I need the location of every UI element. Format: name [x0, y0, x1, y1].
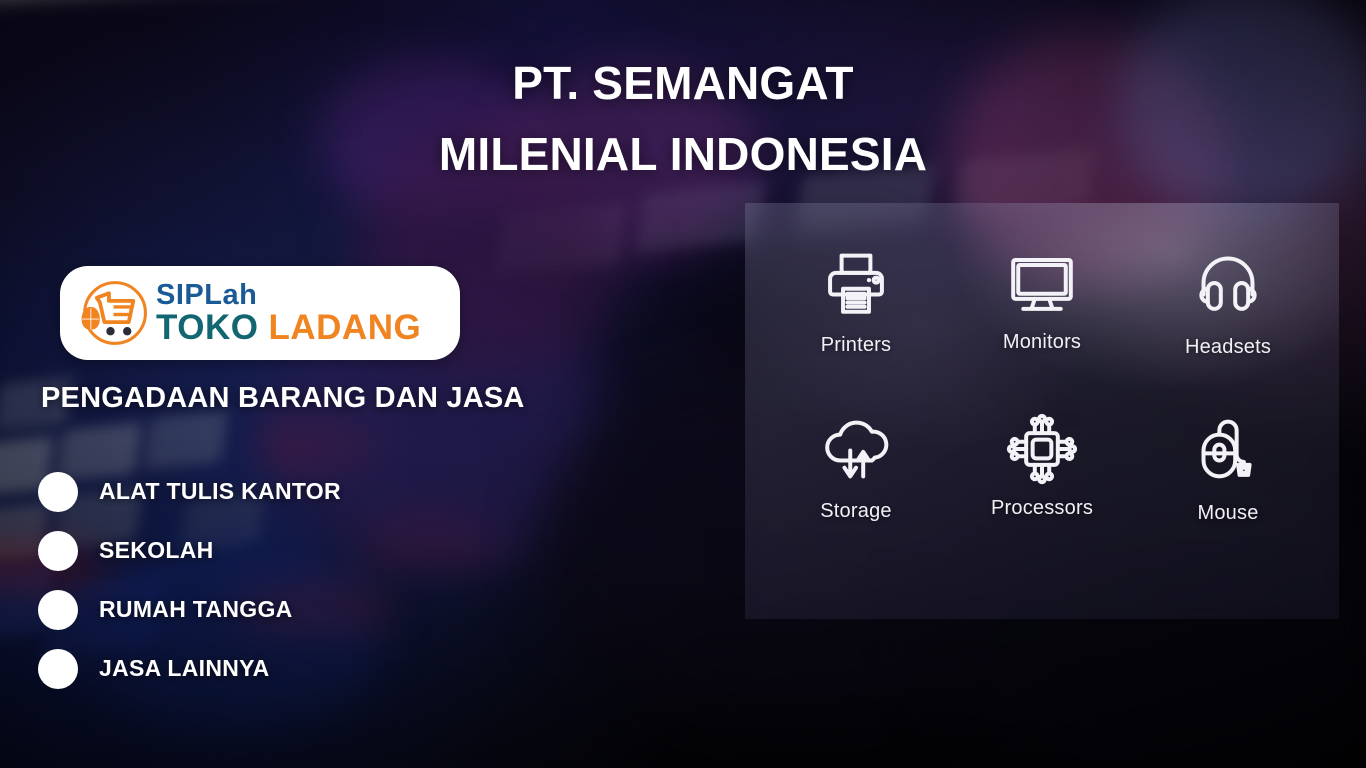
services-list: ALAT TULIS KANTOR SEKOLAH RUMAH TANGGA J… [38, 462, 341, 698]
printer-icon [820, 247, 892, 319]
product-category-label: Printers [821, 334, 892, 357]
siplah-logo[interactable]: SIPLah TOKOLADANG [60, 266, 460, 360]
product-category-mouse[interactable]: Mouse [1135, 413, 1321, 579]
product-category-label: Monitors [1003, 331, 1081, 354]
product-category-monitors[interactable]: Monitors [949, 247, 1135, 413]
computer-mouse-icon [1192, 413, 1264, 485]
siplah-logo-wordmark: SIPLah TOKOLADANG [156, 281, 444, 345]
list-item-label: SEKOLAH [99, 537, 214, 564]
list-item[interactable]: ALAT TULIS KANTOR [38, 462, 341, 521]
list-item-label: ALAT TULIS KANTOR [99, 478, 341, 505]
product-category-label: Processors [991, 497, 1093, 520]
bullet-dot-icon [38, 649, 78, 689]
cloud-storage-icon [820, 413, 892, 485]
page-title-line-1: PT. SEMANGAT [0, 48, 1366, 119]
processor-chip-icon [1006, 413, 1078, 485]
bullet-dot-icon [38, 531, 78, 571]
list-item-label: RUMAH TANGGA [99, 596, 293, 623]
logo-brand-store: TOKOLADANG [156, 308, 421, 347]
product-category-storage[interactable]: Storage [763, 413, 949, 579]
shopping-cart-icon [74, 275, 150, 351]
slide-canvas: PT. SEMANGAT MILENIAL INDONESIA SIPLah T… [0, 0, 1366, 768]
product-category-label: Storage [820, 500, 891, 523]
product-category-processors[interactable]: Processors [949, 413, 1135, 579]
page-title-line-2: MILENIAL INDONESIA [0, 119, 1366, 190]
product-category-grid: Printers Monitors [745, 203, 1339, 579]
logo-brand-toko: TOKO [156, 308, 258, 347]
product-category-printers[interactable]: Printers [763, 247, 949, 413]
list-item-label: JASA LAINNYA [99, 655, 270, 682]
product-category-panel: Printers Monitors [745, 203, 1339, 619]
list-item[interactable]: SEKOLAH [38, 521, 341, 580]
product-category-label: Headsets [1185, 336, 1271, 359]
list-item[interactable]: JASA LAINNYA [38, 639, 341, 698]
headset-icon [1192, 247, 1264, 319]
bullet-dot-icon [38, 590, 78, 630]
monitor-icon [1006, 247, 1078, 319]
logo-brand-ladang: LADANG [268, 308, 421, 347]
page-title: PT. SEMANGAT MILENIAL INDONESIA [0, 48, 1366, 191]
bullet-dot-icon [38, 472, 78, 512]
product-category-label: Mouse [1197, 502, 1258, 525]
logo-brand-siplah: SIPLah [156, 279, 257, 311]
list-item[interactable]: RUMAH TANGGA [38, 580, 341, 639]
product-category-headsets[interactable]: Headsets [1135, 247, 1321, 413]
services-heading: PENGADAAN BARANG DAN JASA [41, 382, 525, 415]
